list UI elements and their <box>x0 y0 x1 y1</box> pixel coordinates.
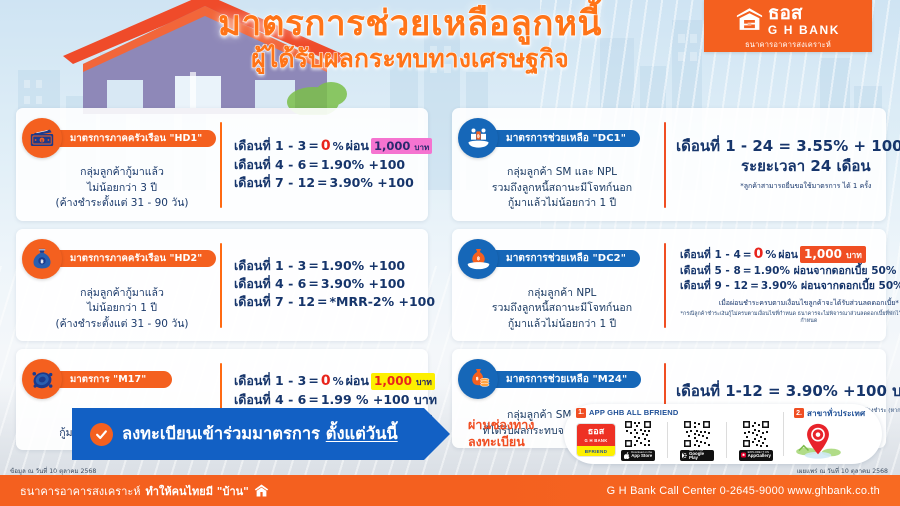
infographic-page: มาตรการช่วยเหลือลูกหนี้ ผู้ได้รับผลกระทบ… <box>0 0 900 506</box>
channel-list: 1. APP GHB ALL BFRIEND ธอส G H BANK BFRI… <box>564 404 882 464</box>
desc-line: รวมถึงลูกหนี้สถานะมีโจทก์นอก <box>460 181 664 197</box>
logo-tagline: ธนาคารอาคารสงเคราะห์ <box>745 39 831 51</box>
term-rate-zero: 0 <box>754 244 764 264</box>
highlight-unit: บาท <box>414 143 429 152</box>
svg-text:฿: ฿ <box>40 259 43 265</box>
term-label: เดือนที่ 1 - 4 <box>680 248 741 263</box>
highlight-value: 1,000 <box>804 247 842 261</box>
googleplay-badge[interactable]: GET IT ON Google Play <box>680 450 714 461</box>
term-label: เดือนที่ 7 - 12 <box>234 174 315 192</box>
term-row: เดือนที่ 7 - 12 = *MRR-2% +100 <box>234 293 435 311</box>
term-after: ผ่อน <box>778 248 798 263</box>
cta-plain: ลงทะเบียนเข้าร่วมมาตรการ <box>122 424 326 443</box>
desc-line: กู้มาแล้วไม่น้อยกว่า 1 ปี <box>460 317 664 333</box>
register-cta-text: ลงทะเบียนเข้าร่วมมาตรการ ตั้งแต่วันนี้ <box>122 421 398 447</box>
term-label: เดือนที่ 7 - 12 <box>234 293 315 311</box>
card-terms-dc2: เดือนที่ 1 - 4 = 0 % ผ่อน 1,000 บาท เดือ… <box>666 237 900 333</box>
term-label: เดือนที่ 1 - 3 <box>234 137 306 155</box>
term-rate: 3.90% ผ่อนจากดอกเบี้ย 50% + 100 <box>761 279 900 294</box>
store-googleplay[interactable]: GET IT ON Google Play <box>680 420 714 461</box>
card-tag-m17: มาตรการ "M17" <box>56 371 172 388</box>
register-cta-banner[interactable]: ลงทะเบียนเข้าร่วมมาตรการ ตั้งแต่วันนี้ <box>72 408 424 460</box>
channel-title-1: APP GHB ALL BFRIEND <box>589 408 679 417</box>
term-rate: 3.90% +100 <box>321 275 405 293</box>
highlight-unit: บาท <box>416 378 432 388</box>
card-left-dc2: ฿ มาตรการช่วยเหลือ "DC2" กลุ่มลูกค้า NPL… <box>460 237 664 333</box>
term-label: เดือนที่ 4 - 6 <box>234 275 306 293</box>
qr-code-appstore-icon[interactable] <box>624 420 652 448</box>
term-equals: = <box>743 248 752 263</box>
term-highlight-amount: 1,000 บาท <box>800 246 866 263</box>
channel-label-line2: ลงทะเบียน <box>468 434 560 451</box>
term-label: เดือนที่ 1 - 3 <box>234 372 306 390</box>
desc-line: (ค้างชำระตั้งแต่ 31 - 90 วัน) <box>24 196 220 212</box>
term-equals: = <box>317 174 327 192</box>
card-terms-hd1: เดือนที่ 1 - 3 = 0 % ผ่อน 1,000 บาท เดือ… <box>222 116 432 212</box>
qr-code-googleplay-icon[interactable] <box>683 420 711 448</box>
channel-app[interactable]: 1. APP GHB ALL BFRIEND ธอส G H BANK BFRI… <box>576 408 773 461</box>
term-row: เดือนที่ 1 - 3 = 0 % ผ่อน 1,000 บาท <box>234 371 437 391</box>
card-tag-hd1: มาตรการภาคครัวเรือน "HD1" <box>56 130 216 147</box>
logo-thai-text: ธอส <box>768 4 803 23</box>
card-tag-dc1: มาตรการช่วยเหลือ "DC1" <box>492 130 640 147</box>
highlight-unit: บาท <box>846 251 862 261</box>
banknote-icon: B <box>22 118 62 158</box>
store-name: Google Play <box>689 452 712 461</box>
appgallery-icon <box>741 452 746 458</box>
svg-text:฿: ฿ <box>475 376 478 381</box>
appstore-badge[interactable]: Download on the App Store <box>621 450 655 461</box>
desc-line: ไม่น้อยกว่า 3 ปี <box>24 181 220 197</box>
google-play-icon <box>682 452 687 459</box>
term-equals: = <box>308 372 318 390</box>
term-equals: = <box>308 275 318 293</box>
card-left-hd1: B มาตรการภาคครัวเรือน "HD1" กลุ่มลูกค้าก… <box>24 116 220 212</box>
term-row: เดือนที่ 1 - 3 = 1.90% +100 <box>234 257 435 275</box>
term-big-line: เดือนที่ 1 - 24 = 3.55% + 100 บาท <box>676 136 900 156</box>
term-row: เดือนที่ 1 - 3 = 0 % ผ่อน 1,000 บาท <box>234 136 432 156</box>
term-row: เดือนที่ 4 - 6 = 3.90% +100 <box>234 275 435 293</box>
desc-line: กลุ่มลูกค้า SM และ NPL <box>460 165 664 181</box>
term-row: เดือนที่ 5 - 8 = 1.90% ผ่อนจากดอกเบี้ย 5… <box>680 264 900 279</box>
measure-card-dc1[interactable]: ฿ มาตรการช่วยเหลือ "DC1" กลุ่มลูกค้า SM … <box>452 108 886 221</box>
term-percent: % <box>333 139 344 155</box>
card-desc-dc2: กลุ่มลูกค้า NPL รวมถึงลูกหนี้สถานะมีโจทก… <box>460 286 664 333</box>
term-row: เดือนที่ 4 - 6 = 1.90% +100 <box>234 156 432 174</box>
money-bag-icon: ฿ <box>22 239 62 279</box>
term-highlight-amount: 1,000 บาท <box>371 138 432 155</box>
branch-map-illustration <box>794 422 842 462</box>
measure-card-hd2[interactable]: ฿ มาตรการภาคครัวเรือน "HD2" กลุ่มลูกค้าก… <box>16 229 428 342</box>
term-rate: 1.90% +100 <box>321 257 405 275</box>
card-left-dc1: ฿ มาตรการช่วยเหลือ "DC1" กลุ่มลูกค้า SM … <box>460 116 664 212</box>
footer-bar: ธนาคารอาคารสงเคราะห์ ทำให้คนไทยมี "บ้าน"… <box>0 475 900 506</box>
footer-slogan: ธนาคารอาคารสงเคราะห์ ทำให้คนไทยมี "บ้าน" <box>20 482 269 500</box>
registration-bar: ลงทะเบียนเข้าร่วมมาตรการ ตั้งแต่วันนี้ ผ… <box>72 398 882 470</box>
term-rate: 1.90% ผ่อนจากดอกเบี้ย 50% + 100 <box>754 264 900 279</box>
appgallery-badge[interactable]: EXPLORE IT ON AppGallery <box>739 450 773 461</box>
term-label: เดือนที่ 1 - 3 <box>234 257 306 275</box>
check-circle-icon <box>90 423 113 446</box>
card-note-mini-dc2: *กรณีลูกค้าชำระเงินกู้ไม่ครบตามเงื่อนไขท… <box>676 311 900 325</box>
svg-text:฿: ฿ <box>476 256 479 262</box>
desc-line: (ค้างชำระตั้งแต่ 31 - 90 วัน) <box>24 317 220 333</box>
term-rate: *MRR-2% +100 <box>330 293 436 311</box>
channel-title-2: สาขาทั่วประเทศ <box>807 407 865 420</box>
channel-number-2: 2. <box>794 408 804 418</box>
desc-line: กู้มาแล้วไม่น้อยกว่า 1 ปี <box>460 196 664 212</box>
channel-label-line1: ผ่านช่องทาง <box>468 417 560 434</box>
desc-line: รวมถึงลูกหนี้สถานะมีโจทก์นอก <box>460 301 664 317</box>
money-bag-coins-icon: ฿ <box>458 359 498 399</box>
store-appstore[interactable]: Download on the App Store <box>621 420 655 461</box>
qr-code-appgallery-icon[interactable] <box>742 420 770 448</box>
app-icon-thai: ธอส <box>588 428 604 437</box>
term-after: ผ่อน <box>346 372 369 390</box>
store-appgallery[interactable]: EXPLORE IT ON AppGallery <box>739 420 773 461</box>
term-after: ผ่อน <box>346 137 369 155</box>
term-row: เดือนที่ 7 - 12 = 3.90% +100 <box>234 174 432 192</box>
svg-text:฿: ฿ <box>477 134 480 139</box>
card-terms-dc1: เดือนที่ 1 - 24 = 3.55% + 100 บาท ระยะเว… <box>666 116 900 212</box>
term-rate: 1.90% +100 <box>321 156 405 174</box>
hand-money-people-icon: ฿ <box>458 118 498 158</box>
card-tag-hd2: มาตรการภาคครัวเรือน "HD2" <box>56 250 216 267</box>
term-row: เดือนที่ 1 - 4 = 0 % ผ่อน 1,000 บาท <box>680 244 900 264</box>
term-percent: % <box>765 247 776 263</box>
divider <box>726 422 727 458</box>
divider <box>783 412 784 456</box>
card-desc-hd1: กลุ่มลูกค้ากู้มาแล้ว ไม่น้อยกว่า 3 ปี (ค… <box>24 165 220 212</box>
page-title-group: มาตรการช่วยเหลือลูกหนี้ ผู้ได้รับผลกระทบ… <box>175 6 645 73</box>
card-terms-hd2: เดือนที่ 1 - 3 = 1.90% +100 เดือนที่ 4 -… <box>222 237 435 333</box>
header: มาตรการช่วยเหลือลูกหนี้ ผู้ได้รับผลกระทบ… <box>0 0 900 104</box>
measure-card-dc2[interactable]: ฿ มาตรการช่วยเหลือ "DC2" กลุ่มลูกค้า NPL… <box>452 229 886 342</box>
desc-line: กลุ่มลูกค้ากู้มาแล้ว <box>24 165 220 181</box>
channel-branch[interactable]: 2. สาขาทั่วประเทศ <box>794 407 865 462</box>
footer-contact: G H Bank Call Center 0-2645-9000 www.ghb… <box>607 485 880 497</box>
highlight-value: 1,000 <box>374 374 412 388</box>
term-label: เดือนที่ 9 - 12 <box>680 279 748 294</box>
card-note-dc1: *ลูกค้าสามารถยื่นขอใช้มาตรการ ได้ 1 ครั้… <box>740 181 871 192</box>
term-label: เดือนที่ 5 - 8 <box>680 264 741 279</box>
term-equals: = <box>308 156 318 174</box>
term-equals: = <box>750 279 759 294</box>
term-big-line: ระยะเวลา 24 เดือน <box>741 156 871 176</box>
card-tag-m24: มาตรการช่วยเหลือ "M24" <box>492 371 641 388</box>
ghbank-house-mark-icon <box>736 7 763 33</box>
card-desc-hd2: กลุ่มลูกค้ากู้มาแล้ว ไม่น้อยกว่า 1 ปี (ค… <box>24 286 220 333</box>
map-pin-icon <box>794 422 842 460</box>
card-note-dc2: เมื่อผ่อนชำระครบตามเงื่อนไขลูกค้าจะได้รั… <box>676 298 900 309</box>
term-rate: 3.90% +100 <box>330 174 414 192</box>
store-name: App Store <box>631 454 652 458</box>
app-icon-english: G H BANK <box>584 438 607 443</box>
term-percent: % <box>333 374 344 390</box>
cta-underline: ตั้งแต่วันนี้ <box>326 424 398 443</box>
desc-line: กลุ่มลูกค้ากู้มาแล้ว <box>24 286 220 302</box>
channel-number-1: 1. <box>576 408 586 418</box>
divider <box>667 422 668 458</box>
term-equals: = <box>308 257 318 275</box>
apple-icon <box>624 452 630 459</box>
ghb-app-icon[interactable]: ธอส G H BANK BFRIEND <box>576 423 616 457</box>
page-subtitle: ผู้ได้รับผลกระทบทางเศรษฐกิจ <box>175 45 645 73</box>
highlight-value: 1,000 <box>374 139 410 153</box>
measure-card-hd1[interactable]: B มาตรการภาคครัวเรือน "HD1" กลุ่มลูกค้าก… <box>16 108 428 221</box>
term-equals: = <box>308 137 318 155</box>
term-highlight-amount: 1,000 บาท <box>371 373 435 390</box>
hand-money-bag-icon: ฿ <box>458 239 498 279</box>
coins-icon <box>22 359 62 399</box>
channel-label: ผ่านช่องทาง ลงทะเบียน <box>468 417 560 451</box>
ghbank-logo[interactable]: ธอส G H BANK ธนาคารอาคารสงเคราะห์ <box>704 0 872 52</box>
term-equals: = <box>317 293 327 311</box>
term-rate-zero: 0 <box>321 371 331 391</box>
store-name: AppGallery <box>748 454 771 458</box>
card-tag-dc2: มาตรการช่วยเหลือ "DC2" <box>492 250 640 267</box>
app-icon-badge: BFRIEND <box>577 446 615 456</box>
card-left-hd2: ฿ มาตรการภาคครัวเรือน "HD2" กลุ่มลูกค้าก… <box>24 237 220 333</box>
term-rate-zero: 0 <box>321 136 331 156</box>
house-icon <box>254 483 269 498</box>
card-desc-dc1: กลุ่มลูกค้า SM และ NPL รวมถึงลูกหนี้สถาน… <box>460 165 664 212</box>
logo-english-text: G H BANK <box>768 24 840 36</box>
term-label: เดือนที่ 4 - 6 <box>234 156 306 174</box>
desc-line: กลุ่มลูกค้า NPL <box>460 286 664 302</box>
desc-line: ไม่น้อยกว่า 1 ปี <box>24 301 220 317</box>
footer-slogan-bold: ทำให้คนไทยมี "บ้าน" <box>146 482 249 500</box>
footer-slogan-plain: ธนาคารอาคารสงเคราะห์ <box>20 482 141 500</box>
term-equals: = <box>743 264 752 279</box>
page-title: มาตรการช่วยเหลือลูกหนี้ <box>175 6 645 43</box>
term-row: เดือนที่ 9 - 12 = 3.90% ผ่อนจากดอกเบี้ย … <box>680 279 900 294</box>
